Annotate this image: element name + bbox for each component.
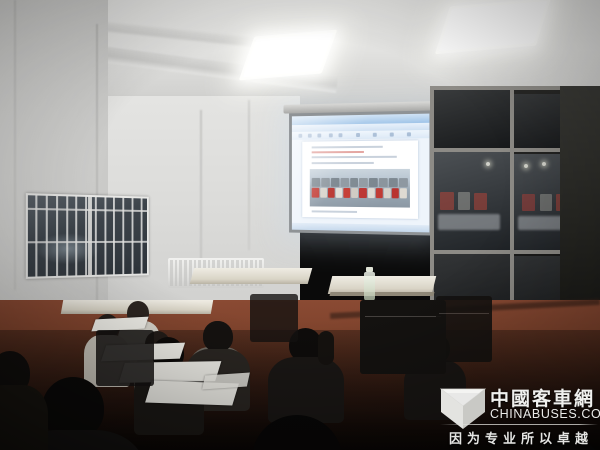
wall-joint [200,110,202,280]
wall-joint-secondary [248,100,250,250]
bus-row-back [312,178,407,187]
reflection-spotlight-1 [486,162,490,166]
slide-document-page [302,140,417,218]
water-bottle [364,272,375,301]
ceiling-light-right-panel [439,1,547,51]
reflection-bus-4 [522,194,535,211]
slide-photo-buses [310,168,409,207]
slide-window-toolbar [292,130,430,140]
screenshot-root: 中國客車網 CHINABUSES.COM 因为专业所以卓越 [0,0,600,450]
reflection-bus-3 [474,193,487,210]
barred-window [26,193,149,279]
reflection-bus-2 [458,192,470,210]
person-near-3-body [0,385,48,450]
projection-screen [289,110,432,235]
chair-1 [360,300,446,374]
reflection-bus-1 [440,192,454,210]
projected-slide [292,114,430,233]
person-mid-1-head [203,321,233,352]
mullion-h-mid [430,250,578,254]
reflection-bus-5 [540,194,552,211]
table-middle-left [190,268,313,284]
water-bottle-cap [366,267,373,272]
left-wall [0,0,108,330]
chair-2 [436,296,492,362]
reflection-ground [438,214,500,230]
reflection-spotlight-3 [542,162,546,166]
bus-row-front [312,187,407,198]
left-wall-pillar-edge [14,0,16,290]
mullion-h-transom [430,148,578,152]
left-wall-edge [96,24,98,324]
chair-3 [96,330,154,386]
window-sash [88,197,92,275]
ceiling-light-left-panel [243,33,333,77]
person-mid-2-body [268,357,344,423]
chair-4 [250,294,298,342]
table-middle-right-edge [330,292,435,296]
pane-transom-1 [432,90,510,148]
reflection-spotlight-2 [524,164,528,168]
person-mid-2-raised-arm [318,331,334,365]
